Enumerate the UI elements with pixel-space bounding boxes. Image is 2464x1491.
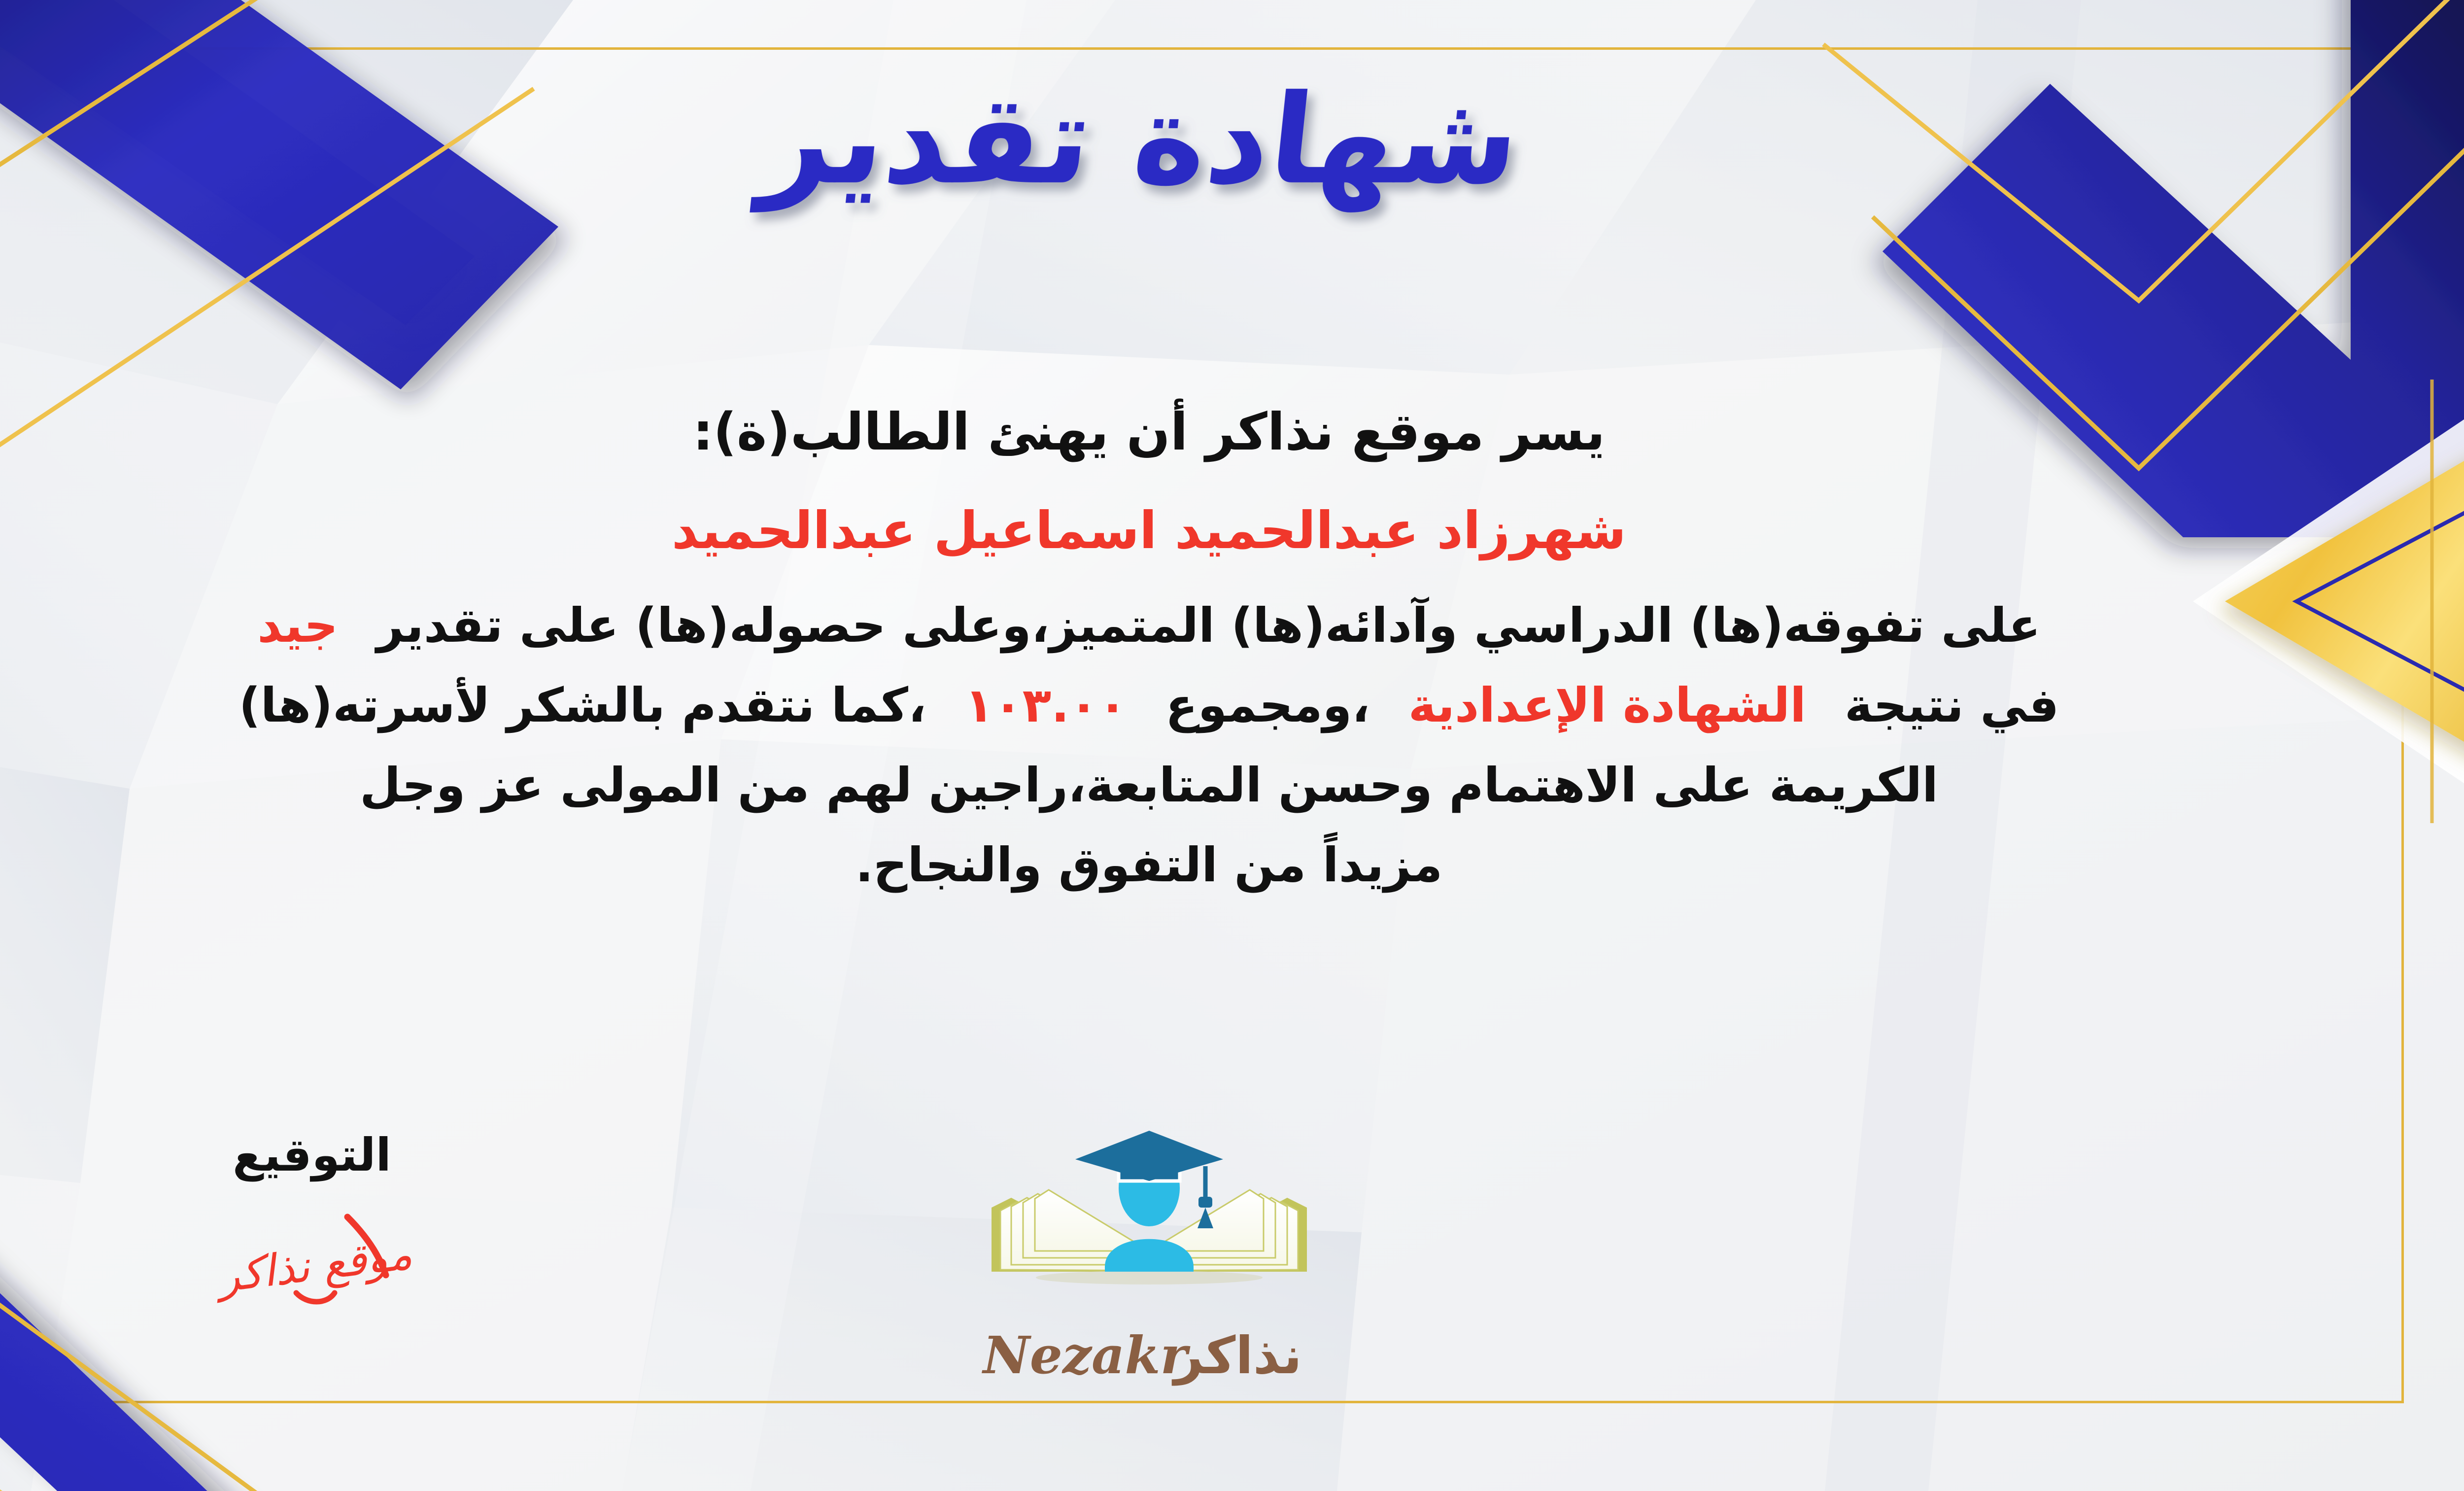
greeting-line: يسر موقع نذاكر أن يهنئ الطالب(ة): [0,394,2380,470]
achievement-line: على تفوقه(ها) الدراسي وآدائه(ها) المتميز… [0,590,2380,660]
result-prefix: في نتيجة [1845,678,2059,733]
handwritten-signature-icon: موقع نذاكر [174,1206,450,1310]
logo-wordmark: Nezakr نذاكر [927,1318,1371,1392]
graduate-open-book-icon [962,1124,1336,1321]
logo-name-latin: Nezakr [981,1325,1191,1386]
student-name: شهرزاد عبدالحميد اسماعيل عبدالحميد [0,493,2380,569]
certificate-name: الشهادة الإعدادية [1408,678,1806,733]
signature-underswoosh-stroke [296,1293,335,1302]
certificate-body: يسر موقع نذاكر أن يهنئ الطالب(ة): شهرزاد… [0,394,2380,900]
certificate-canvas: شهادة تقدير يسر موقع نذاكر أن يهنئ الطال… [0,0,2464,1491]
book-shadow [1036,1271,1263,1284]
achievement-text: على تفوقه(ها) الدراسي وآدائه(ها) المتميز… [376,598,2041,653]
signature-mark-wrap: موقع نذاكر [139,1206,484,1312]
signature-block: التوقيع موقع نذاكر [139,1129,484,1312]
total-score: ١٠٣.٠٠ [964,678,1127,733]
closing-line: مزيداً من التفوق والنجاح. [0,830,2380,900]
family-thanks-line: الكريمة على الاهتمام وحسن المتابعة،راجين… [0,750,2380,820]
certificate-title-text: شهادة تقدير [749,69,1526,213]
certificate-title-wrap: شهادة تقدير [0,59,2464,239]
signature-label: التوقيع [139,1129,484,1181]
thanks-prefix: ،كما نتقدم بالشكر لأسرته(ها) [239,678,926,733]
result-line: في نتيجةالشهادة الإعدادية،ومجموع١٠٣.٠٠،ك… [0,670,2380,740]
logo-name-arabic: نذاكر [1171,1325,1302,1386]
certificate-title: شهادة تقدير [681,59,1617,237]
site-logo-block: Nezakr نذاكر [927,1124,1371,1392]
grade-value: جيد [257,598,338,653]
total-label: ،ومجموع [1165,678,1370,733]
